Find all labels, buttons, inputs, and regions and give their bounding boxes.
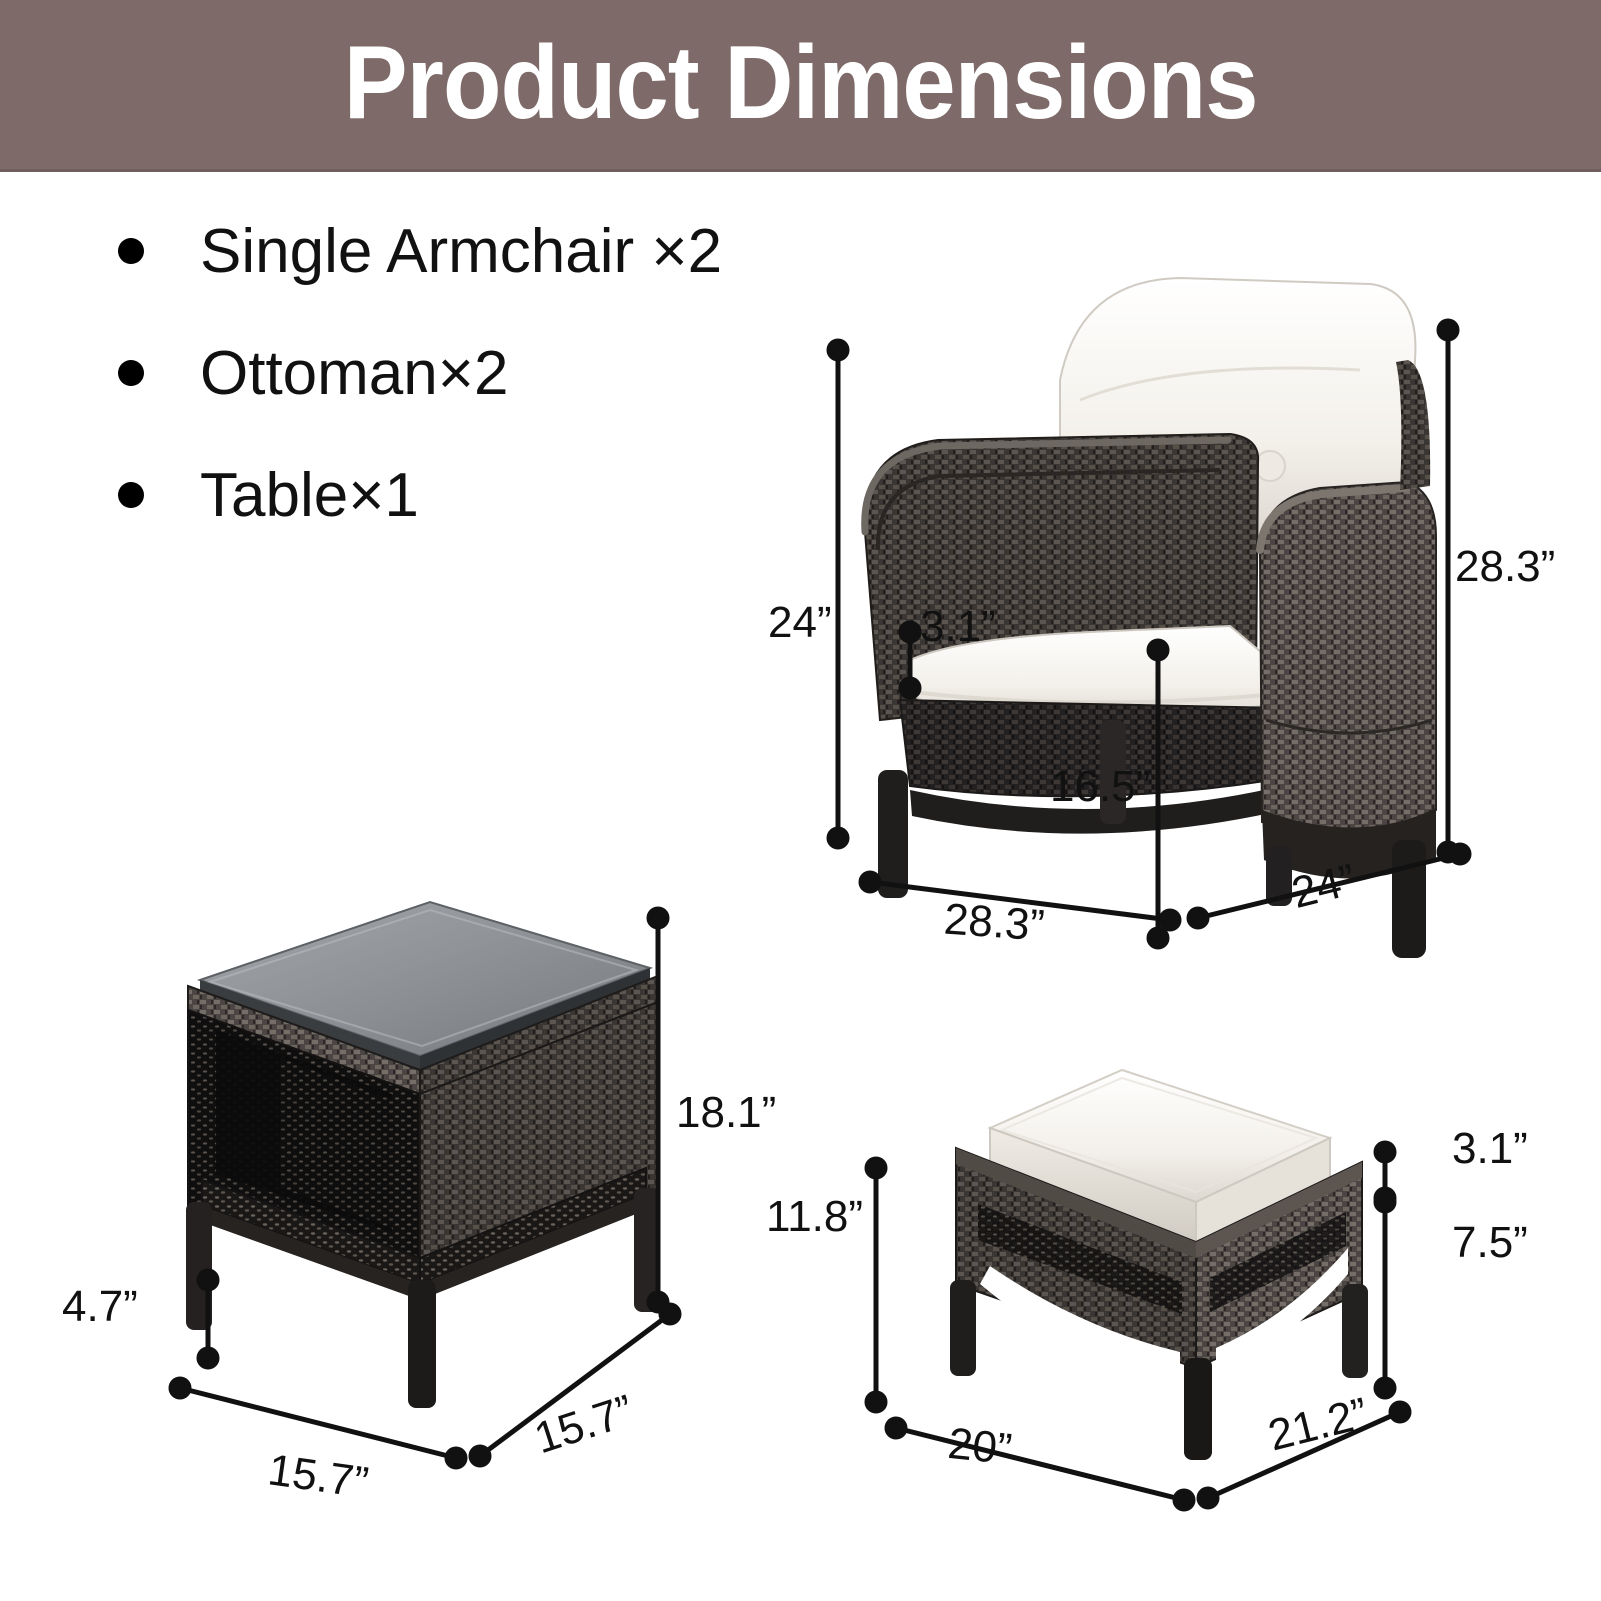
armchair-back-height-label: 28.3” [1455,542,1555,592]
list-item-label: Single Armchair ×2 [200,216,722,287]
armchair-dimension-lines [760,250,1520,1030]
bullet-icon [118,482,144,508]
table-height-label: 18.1” [676,1088,776,1138]
ottoman-frame-height-label: 7.5” [1452,1218,1528,1268]
list-item-label: Ottoman×2 [200,338,508,409]
ottoman-cushion-thickness-label: 3.1” [1452,1124,1528,1174]
page-header: Product Dimensions [0,0,1601,172]
table-leg-clearance-label: 4.7” [62,1282,138,1332]
ottoman-overall-height-label: 11.8” [766,1192,863,1242]
armchair-seat-cushion-thickness-label: 3.1” [920,602,996,652]
list-item-label: Table×1 [200,460,419,531]
ottoman-depth-label: 20” [946,1419,1014,1475]
armchair-width-label: 28.3” [942,895,1046,952]
armchair-seat-height-label: 16.5” [1050,762,1150,812]
bullet-icon [118,360,144,386]
bullet-icon [118,238,144,264]
table-dimension-lines [60,880,760,1520]
armchair-overall-height-label: 24” [768,598,832,648]
page-title: Product Dimensions [344,31,1258,135]
